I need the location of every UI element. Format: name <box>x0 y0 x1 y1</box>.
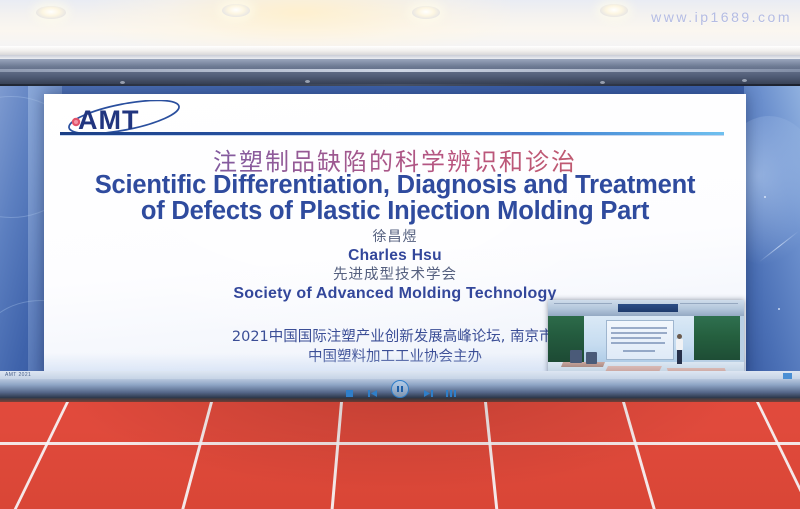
pip-ceiling-slat <box>680 303 738 304</box>
slide-title-english-line2: of Defects of Plastic Injection Molding … <box>44 197 746 225</box>
pip-screen-text-line <box>611 342 665 344</box>
speaker-name-chinese: 徐昌煜 <box>44 229 746 245</box>
svg-text:AMT: AMT <box>78 105 139 135</box>
pip-screen-text-line <box>623 350 655 352</box>
slide-title-english-line1: Scientific Differentiation, Diagnosis an… <box>44 171 746 199</box>
downlight-icon <box>36 6 66 19</box>
downlight-icon <box>222 4 250 17</box>
truss-fixture <box>305 80 310 83</box>
pip-presenter-legs <box>677 350 682 364</box>
pip-presenter <box>676 334 683 364</box>
organization-chinese: 先进成型技术学会 <box>44 267 746 284</box>
pip-ceiling-slat <box>554 303 612 304</box>
red-carpet-floor <box>0 398 800 509</box>
backdrop-streak <box>759 231 799 263</box>
truss-fixture <box>120 81 125 84</box>
pip-stage-banner <box>618 304 678 312</box>
pip-table <box>561 362 605 367</box>
downlight-icon <box>412 6 440 19</box>
pip-right-wall <box>694 316 740 360</box>
ceiling-trim <box>0 46 800 55</box>
carpet-shading <box>0 398 800 509</box>
pip-presenter-torso <box>676 339 683 350</box>
pip-screen-text-line <box>611 327 667 329</box>
truss-rail <box>0 69 800 72</box>
backdrop-spark <box>764 196 766 198</box>
truss-fixture <box>742 79 747 82</box>
pip-screen-text-line <box>611 332 667 334</box>
backdrop-panel-right <box>744 86 800 398</box>
picture-in-picture-video[interactable] <box>548 300 744 380</box>
stop-icon[interactable] <box>345 385 354 394</box>
status-bar-text: AMT 2021 <box>5 372 31 378</box>
last-slide-icon[interactable] <box>446 385 455 394</box>
media-control-buttons <box>0 382 800 396</box>
pip-chair <box>586 352 597 364</box>
speaker-name-english: Charles Hsu <box>44 247 746 265</box>
pip-chair <box>570 350 582 363</box>
presentation-hall-photo: AMT 注塑制品缺陷的科学辨识和诊治 Scientific Differenti… <box>0 0 800 509</box>
watermark: www.ip1689.com <box>651 9 792 25</box>
downlight-icon <box>600 4 628 17</box>
pip-projection-screen <box>606 320 674 360</box>
truss-fixture <box>600 81 605 84</box>
previous-icon[interactable] <box>368 385 377 394</box>
backdrop-spark <box>778 308 780 310</box>
pause-icon[interactable] <box>391 380 409 398</box>
header-divider-shadow <box>60 135 724 136</box>
pip-screen-text-line <box>611 337 661 339</box>
next-icon[interactable] <box>423 385 432 394</box>
